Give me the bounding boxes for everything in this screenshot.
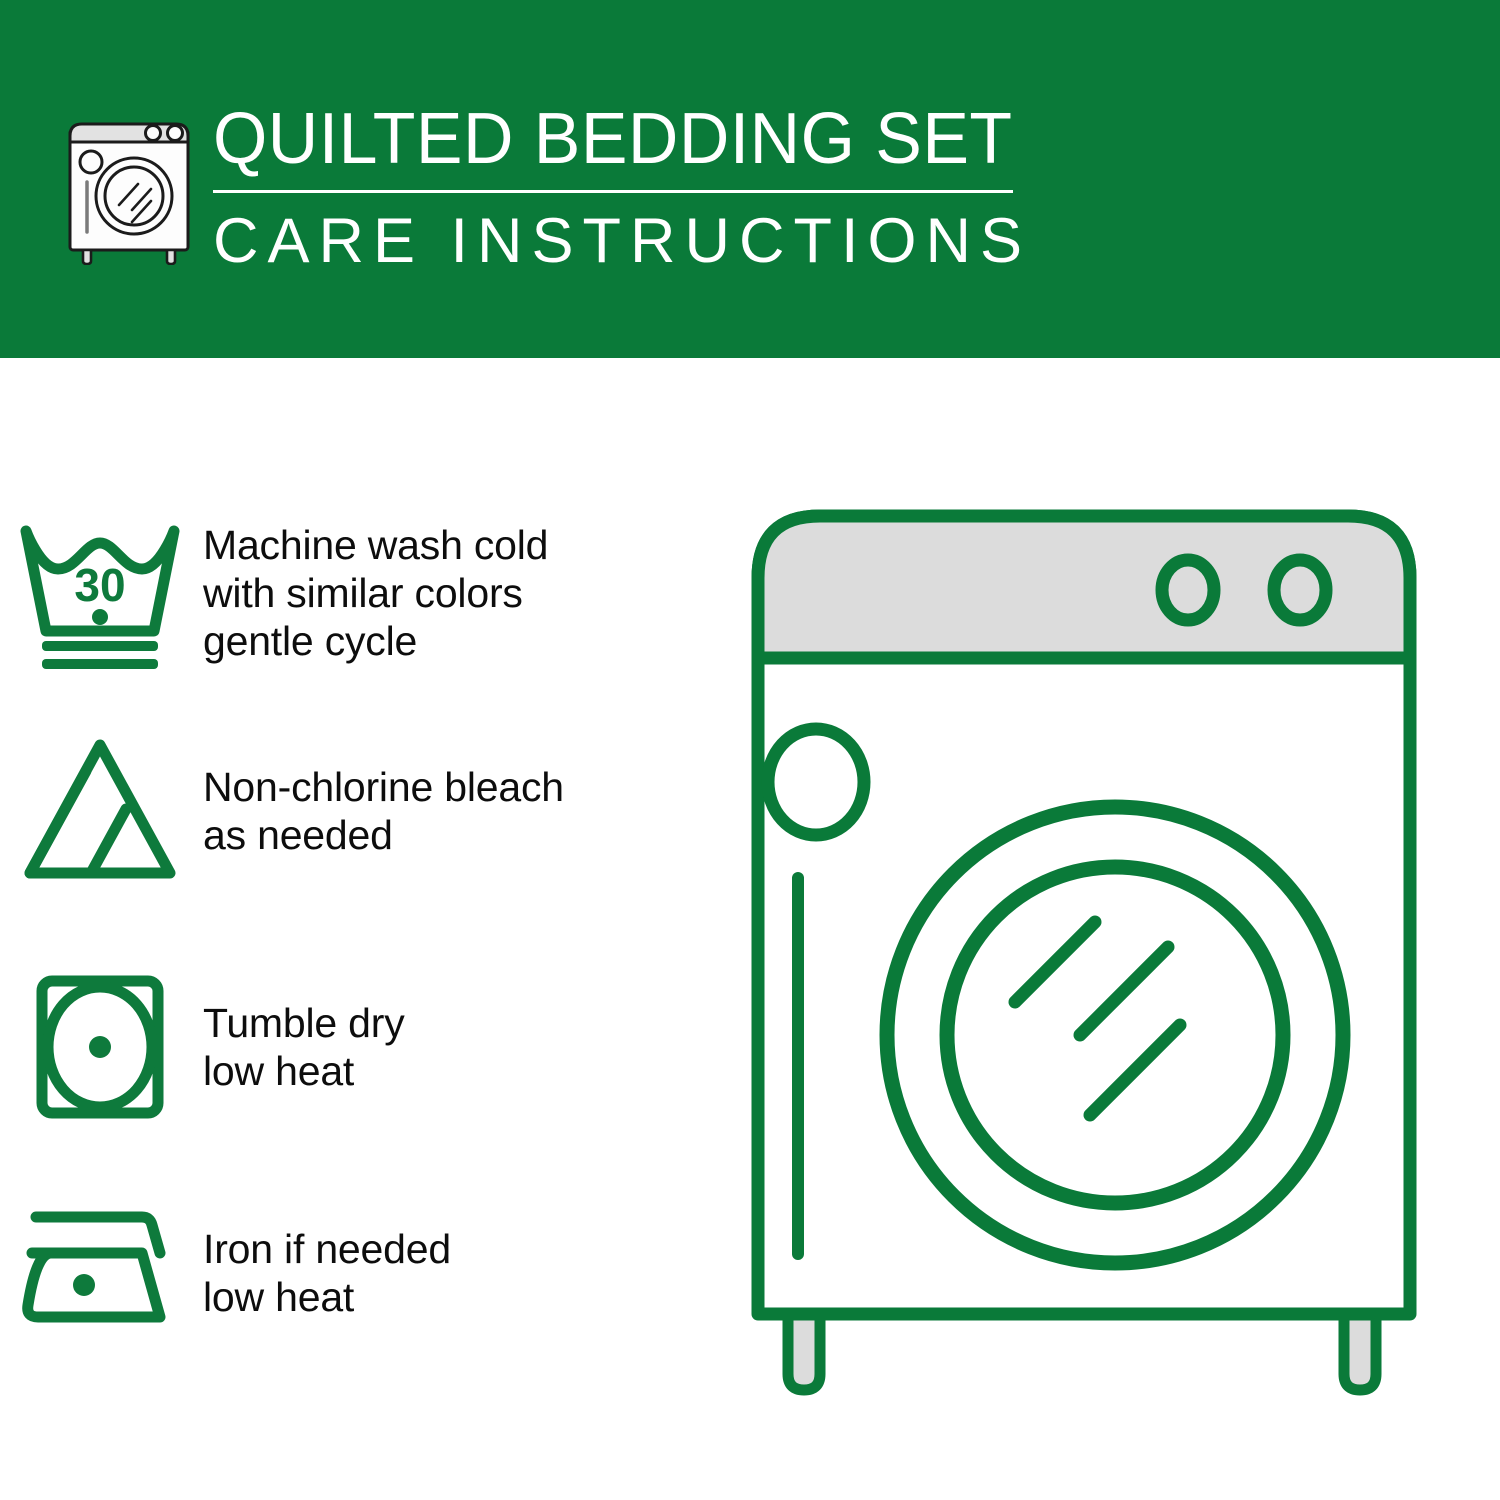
care-item-text: Iron if needed low heat <box>200 1225 451 1321</box>
header-text-block: QUILTED BEDDING SET CARE INSTRUCTIONS <box>213 100 1018 275</box>
tumble-dry-low-icon <box>0 962 200 1132</box>
leg-left <box>788 1310 820 1390</box>
care-instructions-list: 30 Machine wash cold with similar colors… <box>0 358 730 1500</box>
care-text-line: gentle cycle <box>203 617 548 665</box>
page-subtitle: CARE INSTRUCTIONS <box>213 207 1018 275</box>
non-chlorine-bleach-icon <box>0 726 200 896</box>
care-item-iron: Iron if needed low heat <box>0 1188 730 1358</box>
care-item-tumble-dry: Tumble dry low heat <box>0 962 730 1132</box>
care-item-text: Non-chlorine bleach as needed <box>200 763 564 859</box>
care-text-line: Non-chlorine bleach <box>203 763 564 811</box>
care-item-text: Tumble dry low heat <box>200 999 405 1095</box>
title-divider <box>213 190 1013 193</box>
care-text-line: Tumble dry <box>203 999 405 1047</box>
header-banner: QUILTED BEDDING SET CARE INSTRUCTIONS <box>0 0 1500 358</box>
care-text-line: low heat <box>203 1273 451 1321</box>
washing-machine-illustration <box>740 490 1450 1410</box>
care-text-line: with similar colors <box>203 569 548 617</box>
knob-left <box>1162 560 1214 620</box>
page-title: QUILTED BEDDING SET <box>213 100 994 178</box>
care-item-machine-wash: 30 Machine wash cold with similar colors… <box>0 508 730 678</box>
knob-right <box>1274 560 1326 620</box>
care-text-line: low heat <box>203 1047 405 1095</box>
care-text-line: Iron if needed <box>203 1225 451 1273</box>
machine-wash-30-gentle-icon: 30 <box>0 508 200 678</box>
washing-machine-logo-icon <box>62 100 202 265</box>
care-text-line: as needed <box>203 811 564 859</box>
care-item-bleach: Non-chlorine bleach as needed <box>0 726 730 896</box>
care-instructions-infographic: QUILTED BEDDING SET CARE INSTRUCTIONS 30 <box>0 0 1500 1500</box>
leg-right <box>1344 1310 1376 1390</box>
care-item-text: Machine wash cold with similar colors ge… <box>200 521 548 665</box>
wash-temperature-label: 30 <box>74 559 125 611</box>
care-text-line: Machine wash cold <box>203 521 548 569</box>
iron-low-heat-icon <box>0 1188 200 1358</box>
